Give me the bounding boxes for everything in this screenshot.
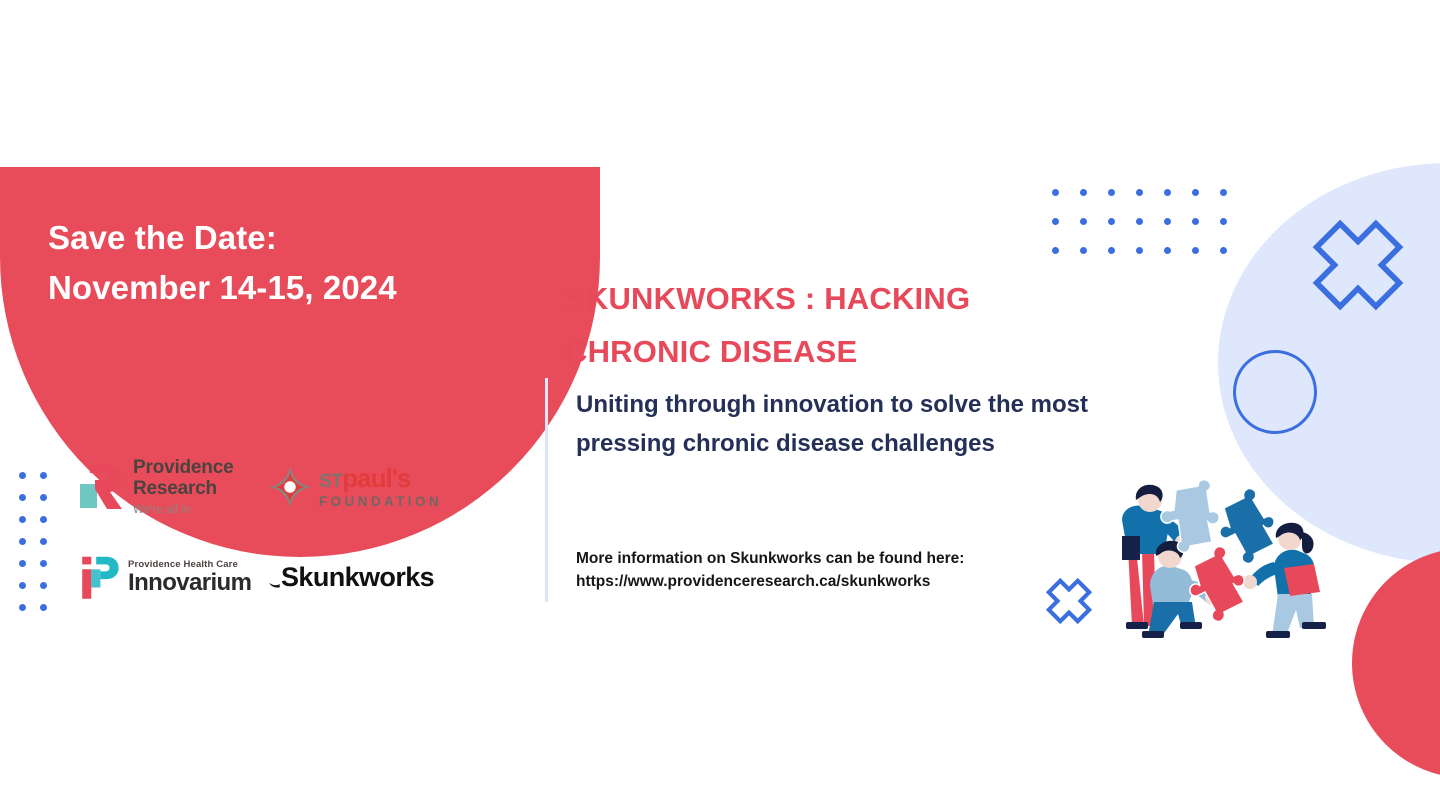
dot — [1220, 247, 1227, 254]
subtitle: Uniting through innovation to solve the … — [576, 386, 1176, 464]
dot — [40, 472, 47, 479]
logo-st-pauls-foundation: STpaul's FOUNDATION — [268, 465, 448, 509]
teamwork-puzzle-illustration — [1098, 476, 1342, 646]
providence-research-line2: Research — [133, 479, 233, 500]
dot — [1080, 218, 1087, 225]
providence-r-mark-icon — [78, 462, 124, 512]
dot — [1052, 189, 1059, 196]
providence-research-line1: Providence — [133, 458, 233, 479]
providence-research-wordmark: Providence Research We're all in. — [133, 458, 233, 516]
st-pauls-st: ST — [319, 471, 342, 492]
dot — [1164, 247, 1171, 254]
dot — [1108, 218, 1115, 225]
dot — [19, 538, 26, 545]
dot — [1164, 189, 1171, 196]
st-pauls-foundation: FOUNDATION — [319, 494, 442, 509]
dot — [40, 604, 47, 611]
page-title: SKUNKWORKS : HACKING CHRONIC DISEASE — [565, 273, 1105, 378]
cross-icon-large — [1311, 218, 1405, 312]
dot — [40, 516, 47, 523]
dot — [19, 472, 26, 479]
dot — [40, 560, 47, 567]
dot — [19, 560, 26, 567]
skunkworks-flourish-icon — [268, 566, 281, 588]
logo-group: Providence Research We're all in. STpaul… — [78, 446, 498, 608]
dot — [40, 582, 47, 589]
st-pauls-pauls: paul's — [342, 463, 410, 493]
dot — [19, 604, 26, 611]
dot — [1220, 189, 1227, 196]
dot — [1108, 247, 1115, 254]
st-pauls-wordmark: STpaul's FOUNDATION — [319, 465, 442, 509]
vertical-divider — [545, 378, 548, 602]
logo-row-bottom: Providence Health Care Innovarium Skunkw… — [78, 546, 498, 608]
dot — [1136, 247, 1143, 254]
more-information-lead: More information on Skunkworks can be fo… — [576, 548, 1096, 571]
dot — [19, 494, 26, 501]
logo-providence-research: Providence Research We're all in. — [78, 458, 254, 516]
dot — [1080, 189, 1087, 196]
logo-skunkworks: Skunkworks — [268, 562, 463, 593]
dot — [19, 582, 26, 589]
event-banner: Save the Date:November 14-15, 2024 Provi… — [0, 0, 1440, 810]
innovarium-ip-mark-icon — [78, 552, 120, 602]
st-pauls-name: STpaul's — [319, 465, 442, 491]
dot — [1052, 247, 1059, 254]
dot — [1136, 189, 1143, 196]
dot — [1108, 189, 1115, 196]
circle-outline-shape — [1233, 350, 1317, 434]
more-information-url[interactable]: https://www.providenceresearch.ca/skunkw… — [576, 571, 1096, 594]
st-pauls-star-icon — [268, 465, 312, 509]
dot — [1192, 218, 1199, 225]
red-blob-shape — [1352, 548, 1440, 778]
more-information-text: More information on Skunkworks can be fo… — [576, 548, 1096, 594]
providence-research-tagline: We're all in. — [133, 504, 233, 516]
dot — [1192, 189, 1199, 196]
skunkworks-wordmark: Skunkworks — [281, 562, 434, 593]
innovarium-wordmark: Providence Health Care Innovarium — [128, 559, 251, 595]
dot — [1080, 247, 1087, 254]
dot — [1192, 247, 1199, 254]
logo-row-top: Providence Research We're all in. STpaul… — [78, 446, 498, 528]
dot — [1052, 218, 1059, 225]
innovarium-name: Innovarium — [128, 570, 251, 595]
dot-grid-left — [19, 472, 61, 626]
dot — [40, 538, 47, 545]
logo-innovarium: Providence Health Care Innovarium — [78, 552, 254, 602]
dot — [1164, 218, 1171, 225]
save-the-date-text: Save the Date:November 14-15, 2024 — [48, 213, 518, 312]
dot-grid-top-right — [1052, 189, 1248, 276]
dot — [19, 516, 26, 523]
dot — [40, 494, 47, 501]
dot — [1136, 218, 1143, 225]
dot — [1220, 218, 1227, 225]
